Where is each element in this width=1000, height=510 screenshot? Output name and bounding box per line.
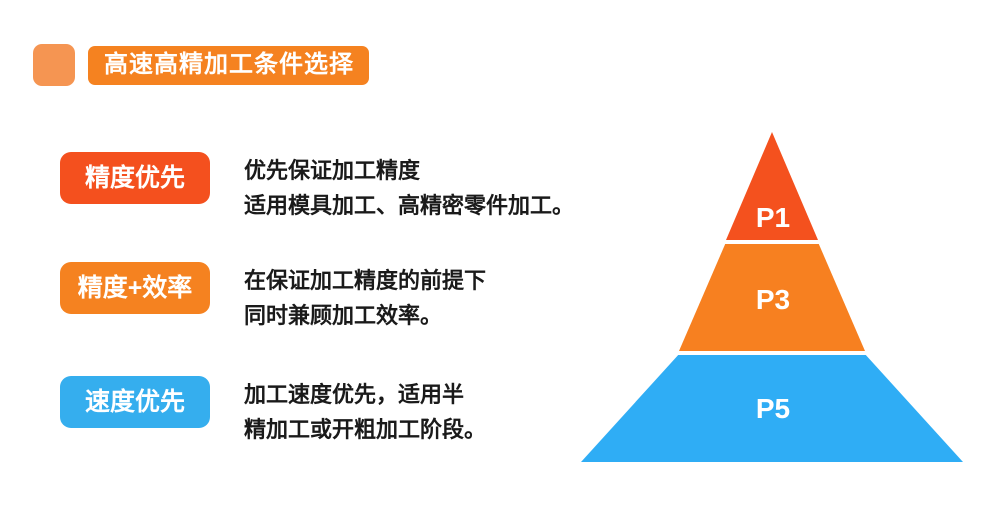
badge-speed-priority[interactable]: 速度优先 bbox=[60, 376, 210, 428]
description-line-1: 加工速度优先，适用半 bbox=[244, 377, 486, 412]
condition-row-accuracy-priority: 精度优先 优先保证加工精度 适用模具加工、高精密零件加工。 bbox=[60, 152, 574, 223]
header-accent-square-icon bbox=[33, 44, 75, 86]
badge-accuracy-efficiency[interactable]: 精度+效率 bbox=[60, 262, 210, 314]
badge-label: 精度+效率 bbox=[78, 276, 193, 301]
condition-row-accuracy-efficiency: 精度+效率 在保证加工精度的前提下 同时兼顾加工效率。 bbox=[60, 262, 486, 333]
pyramid-tier-label-p1: P1 bbox=[756, 204, 790, 232]
condition-row-speed-priority: 速度优先 加工速度优先，适用半 精加工或开粗加工阶段。 bbox=[60, 376, 486, 447]
page-title: 高速高精加工条件选择 bbox=[104, 53, 354, 77]
description-speed-priority: 加工速度优先，适用半 精加工或开粗加工阶段。 bbox=[244, 376, 486, 447]
description-accuracy-efficiency: 在保证加工精度的前提下 同时兼顾加工效率。 bbox=[244, 262, 486, 333]
badge-label: 精度优先 bbox=[85, 166, 185, 191]
description-line-1: 在保证加工精度的前提下 bbox=[244, 263, 486, 298]
pyramid-tier-label-p5: P5 bbox=[756, 395, 790, 423]
description-line-2: 适用模具加工、高精密零件加工。 bbox=[244, 188, 574, 223]
priority-pyramid-diagram: P1 P3 P5 bbox=[575, 120, 975, 480]
description-line-1: 优先保证加工精度 bbox=[244, 153, 574, 188]
pyramid-tier-label-p3: P3 bbox=[756, 286, 790, 314]
header-title-pill: 高速高精加工条件选择 bbox=[88, 46, 369, 85]
badge-accuracy-priority[interactable]: 精度优先 bbox=[60, 152, 210, 204]
description-line-2: 同时兼顾加工效率。 bbox=[244, 298, 486, 333]
slide-canvas: 高速高精加工条件选择 精度优先 优先保证加工精度 适用模具加工、高精密零件加工。… bbox=[0, 0, 1000, 510]
description-line-2: 精加工或开粗加工阶段。 bbox=[244, 412, 486, 447]
header: 高速高精加工条件选择 bbox=[33, 44, 369, 86]
description-accuracy-priority: 优先保证加工精度 适用模具加工、高精密零件加工。 bbox=[244, 152, 574, 223]
badge-label: 速度优先 bbox=[85, 390, 185, 415]
